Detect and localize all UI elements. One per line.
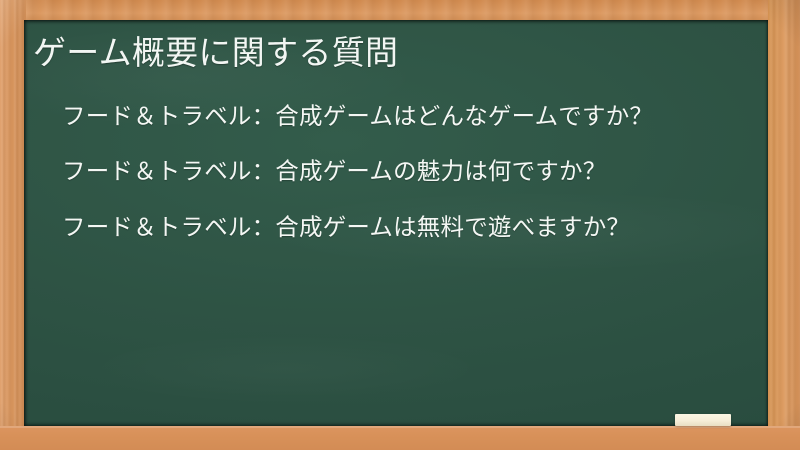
- page-title: ゲーム概要に関する質問: [33, 34, 753, 73]
- chalk-ledge-highlight: [0, 426, 800, 428]
- frame-top-rail: [0, 0, 800, 22]
- question-list: フード＆トラベル：合成ゲームはどんなゲームですか？ フード＆トラベル：合成ゲーム…: [62, 100, 738, 244]
- chalk-ledge: [0, 426, 800, 450]
- chalk-stick-icon: [675, 414, 731, 426]
- chalkboard-content: ゲーム概要に関する質問 フード＆トラベル：合成ゲームはどんなゲームですか？ フー…: [24, 20, 768, 426]
- list-item: フード＆トラベル：合成ゲームはどんなゲームですか？: [62, 100, 738, 133]
- list-item: フード＆トラベル：合成ゲームの魅力は何ですか？: [62, 155, 738, 188]
- list-item: フード＆トラベル：合成ゲームは無料で遊べますか？: [62, 211, 738, 244]
- frame-left-rail: [0, 0, 26, 450]
- frame-right-rail: [768, 0, 800, 450]
- chalkboard-slide: ゲーム概要に関する質問 フード＆トラベル：合成ゲームはどんなゲームですか？ フー…: [0, 0, 800, 450]
- chalkboard-surface: ゲーム概要に関する質問 フード＆トラベル：合成ゲームはどんなゲームですか？ フー…: [24, 20, 768, 426]
